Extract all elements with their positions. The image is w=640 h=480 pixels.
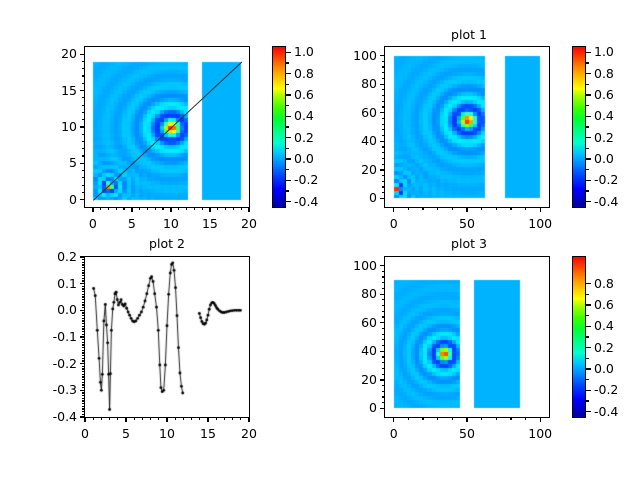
y-minor-tick [82, 270, 85, 271]
y-tick-mark [380, 379, 385, 380]
y-tick-label: 0.2 [27, 249, 77, 264]
y-minor-tick [382, 101, 385, 102]
y-minor-tick [82, 323, 85, 324]
x-tick-label: 100 [515, 426, 565, 441]
y-tick-label: 0 [327, 400, 377, 415]
y-minor-tick [82, 352, 85, 353]
y-minor-tick [382, 186, 385, 187]
colorbar-tick-mark [586, 347, 591, 348]
y-minor-tick [382, 192, 385, 193]
x-minor-tick [191, 417, 192, 420]
colorbar-tick-mark [586, 326, 591, 327]
x-tick-label: 20 [224, 426, 274, 441]
colorbar-top-right [572, 46, 586, 208]
colorbar-tick-mark [286, 94, 291, 95]
colorbar-tick-label: 0.4 [294, 108, 314, 123]
x-minor-tick [155, 207, 156, 210]
axes-content-bottom-left [85, 257, 249, 417]
y-minor-tick [82, 400, 85, 401]
y-minor-tick [382, 78, 385, 79]
colorbar-tick-mark [286, 158, 291, 159]
x-tick-label: 100 [515, 216, 565, 231]
colorbar-tick-label: 0.0 [594, 361, 614, 376]
y-minor-tick [82, 275, 85, 276]
y-tick-mark [380, 294, 385, 295]
axes-content-top-right [385, 47, 549, 207]
y-minor-tick [82, 119, 85, 120]
y-minor-tick [82, 288, 85, 289]
colorbar-tick-mark [586, 52, 591, 53]
x-tick-mark [209, 207, 210, 212]
y-minor-tick [382, 374, 385, 375]
x-minor-tick [510, 207, 511, 210]
y-minor-tick [82, 366, 85, 367]
y-minor-tick [82, 371, 85, 372]
colorbar-tick-label: 0.0 [294, 151, 314, 166]
y-minor-tick [382, 146, 385, 147]
colorbar-minor-tick [586, 400, 589, 401]
y-minor-tick [82, 302, 85, 303]
y-tick-label: 100 [327, 48, 377, 63]
colorbar-tick-mark [586, 283, 591, 284]
x-tick-mark [92, 207, 93, 212]
x-minor-tick [116, 207, 117, 210]
y-minor-tick [82, 299, 85, 300]
x-minor-tick [452, 417, 453, 420]
x-minor-tick [134, 417, 135, 420]
y-minor-tick [382, 95, 385, 96]
y-minor-tick [382, 345, 385, 346]
y-tick-label: 0.1 [27, 276, 77, 291]
y-minor-tick [82, 344, 85, 345]
y-tick-label: 60 [327, 315, 377, 330]
x-minor-tick [525, 417, 526, 420]
y-minor-tick [82, 392, 85, 393]
colorbar-minor-tick [586, 190, 589, 191]
x-minor-tick [109, 417, 110, 420]
x-tick-mark [170, 207, 171, 212]
x-tick-mark [248, 207, 249, 212]
x-minor-tick [186, 207, 187, 210]
y-minor-tick [82, 141, 85, 142]
colorbar-minor-tick [586, 169, 589, 170]
figure-canvas: 0510152005101520 -0.4-0.20.00.20.40.60.8… [0, 0, 640, 480]
colorbar-tick-mark [286, 201, 291, 202]
colorbar-tick-label: -0.4 [594, 194, 618, 209]
colorbar-tick-label: 0.6 [294, 87, 314, 102]
x-minor-tick [158, 417, 159, 420]
x-minor-tick [240, 417, 241, 420]
y-minor-tick [82, 376, 85, 377]
x-minor-tick [422, 207, 423, 210]
x-minor-tick [175, 417, 176, 420]
x-tick-mark [84, 417, 85, 422]
y-minor-tick [82, 296, 85, 297]
y-tick-label: -0.4 [27, 409, 77, 424]
y-tick-mark [380, 351, 385, 352]
colorbar-top-left [272, 46, 286, 208]
y-minor-tick [82, 75, 85, 76]
y-minor-tick [382, 175, 385, 176]
y-minor-tick [382, 402, 385, 403]
y-tick-mark [380, 198, 385, 199]
x-minor-tick [178, 207, 179, 210]
colorbar-tick-label: 0.6 [594, 87, 614, 102]
x-minor-tick [93, 417, 94, 420]
y-tick-mark [380, 408, 385, 409]
colorbar-tick-label: 0.2 [294, 130, 314, 145]
y-minor-tick [82, 105, 85, 106]
x-tick-label: 50 [442, 216, 492, 231]
colorbar-tick-label: 0.8 [594, 66, 614, 81]
y-minor-tick [82, 304, 85, 305]
y-tick-label: 10 [27, 119, 77, 134]
colorbar-tick-mark [586, 390, 591, 391]
y-minor-tick [382, 299, 385, 300]
y-minor-tick [382, 334, 385, 335]
x-minor-tick [202, 207, 203, 210]
y-minor-tick [82, 382, 85, 383]
x-minor-tick [150, 417, 151, 420]
y-minor-tick [382, 305, 385, 306]
y-tick-mark [80, 199, 85, 200]
panel-top-right: plot 1 020406080100050100 -0.4-0.20.00.2… [320, 0, 640, 240]
y-tick-label: 100 [327, 258, 377, 273]
x-minor-tick [108, 207, 109, 210]
y-minor-tick [82, 315, 85, 316]
colorbar-tick-label: 0.2 [594, 130, 614, 145]
y-minor-tick [382, 328, 385, 329]
colorbar-minor-tick [586, 62, 589, 63]
y-minor-tick [382, 124, 385, 125]
colorbar-minor-tick [586, 105, 589, 106]
x-minor-tick [101, 417, 102, 420]
y-minor-tick [382, 164, 385, 165]
x-tick-mark [466, 417, 467, 422]
y-minor-tick [382, 356, 385, 357]
heatmap-image-top-right [385, 47, 549, 207]
x-minor-tick [233, 207, 234, 210]
colorbar-tick-label: -0.4 [294, 194, 318, 209]
colorbar-minor-tick [286, 148, 289, 149]
y-minor-tick [82, 379, 85, 380]
y-minor-tick [82, 307, 85, 308]
y-tick-label: 60 [327, 105, 377, 120]
x-minor-tick [183, 417, 184, 420]
panel-title-bottom-left: plot 2 [84, 236, 250, 251]
y-minor-tick [382, 276, 385, 277]
y-minor-tick [382, 135, 385, 136]
colorbar-minor-tick [286, 169, 289, 170]
y-minor-tick [82, 368, 85, 369]
y-minor-tick [82, 97, 85, 98]
colorbar-tick-mark [586, 137, 591, 138]
x-minor-tick [437, 417, 438, 420]
y-minor-tick [82, 318, 85, 319]
x-tick-mark [393, 207, 394, 212]
x-minor-tick [139, 207, 140, 210]
colorbar-minor-tick [586, 148, 589, 149]
y-minor-tick [82, 272, 85, 273]
colorbar-tick-mark [286, 180, 291, 181]
y-tick-mark [80, 256, 85, 257]
axes-content-top-left [85, 47, 249, 207]
y-minor-tick [82, 331, 85, 332]
y-tick-mark [80, 310, 85, 311]
colorbar-minor-tick [286, 62, 289, 63]
y-tick-label: 20 [327, 162, 377, 177]
x-tick-mark [540, 207, 541, 212]
y-minor-tick [82, 347, 85, 348]
x-tick-mark [207, 417, 208, 422]
x-minor-tick [496, 207, 497, 210]
y-minor-tick [382, 311, 385, 312]
y-tick-mark [380, 84, 385, 85]
y-minor-tick [82, 83, 85, 84]
colorbar-minor-tick [286, 105, 289, 106]
colorbar-tick-label: 0.0 [594, 151, 614, 166]
y-minor-tick [382, 106, 385, 107]
x-tick-mark [540, 417, 541, 422]
y-minor-tick [82, 360, 85, 361]
y-minor-tick [82, 395, 85, 396]
x-minor-tick [142, 417, 143, 420]
y-minor-tick [382, 152, 385, 153]
y-minor-tick [82, 278, 85, 279]
y-minor-tick [82, 280, 85, 281]
x-tick-mark [131, 207, 132, 212]
x-minor-tick [224, 417, 225, 420]
x-minor-tick [525, 207, 526, 210]
colorbar-tick-label: 0.4 [594, 108, 614, 123]
y-minor-tick [82, 406, 85, 407]
x-tick-mark [393, 417, 394, 422]
y-tick-label: 0 [327, 190, 377, 205]
colorbar-minor-tick [586, 336, 589, 337]
y-minor-tick [82, 262, 85, 263]
colorbar-tick-mark [586, 158, 591, 159]
y-minor-tick [82, 148, 85, 149]
panel-bottom-left: plot 2 -0.4-0.3-0.2-0.10.00.10.205101520 [0, 240, 320, 480]
y-tick-mark [80, 54, 85, 55]
x-minor-tick [216, 417, 217, 420]
x-minor-tick [496, 417, 497, 420]
colorbar-minor-tick [286, 84, 289, 85]
colorbar-tick-mark [586, 368, 591, 369]
colorbar-minor-tick [586, 315, 589, 316]
y-minor-tick [82, 355, 85, 356]
x-minor-tick [408, 207, 409, 210]
y-minor-tick [82, 264, 85, 265]
heatmap-image-bottom-right [385, 257, 549, 417]
x-tick-label: 0 [369, 216, 419, 231]
panel-top-left: 0510152005101520 -0.4-0.20.00.20.40.60.8… [0, 0, 320, 240]
colorbar-minor-tick [586, 358, 589, 359]
x-tick-label: 50 [442, 426, 492, 441]
colorbar-tick-mark [286, 116, 291, 117]
y-minor-tick [82, 112, 85, 113]
y-minor-tick [82, 374, 85, 375]
line-series-bottom-left [85, 257, 249, 417]
y-tick-label: 20 [27, 46, 77, 61]
colorbar-tick-label: -0.4 [594, 404, 618, 419]
colorbar-tick-label: -0.2 [594, 382, 618, 397]
x-minor-tick [162, 207, 163, 210]
colorbar-tick-mark [586, 116, 591, 117]
colorbar-tick-mark [586, 73, 591, 74]
y-minor-tick [82, 398, 85, 399]
y-tick-label: 40 [327, 343, 377, 358]
colorbar-tick-mark [586, 180, 591, 181]
panel-title-bottom-right: plot 3 [384, 236, 554, 251]
y-minor-tick [382, 316, 385, 317]
x-minor-tick [194, 207, 195, 210]
y-tick-mark [380, 55, 385, 56]
y-minor-tick [82, 286, 85, 287]
x-minor-tick [422, 417, 423, 420]
x-tick-mark [125, 417, 126, 422]
x-tick-label: 0 [369, 426, 419, 441]
y-minor-tick [382, 118, 385, 119]
y-tick-label: -0.2 [27, 356, 77, 371]
y-tick-mark [80, 126, 85, 127]
y-tick-mark [380, 169, 385, 170]
y-minor-tick [82, 358, 85, 359]
y-minor-tick [82, 411, 85, 412]
x-minor-tick [241, 207, 242, 210]
colorbar-tick-label: 0.4 [594, 318, 614, 333]
colorbar-tick-label: 1.0 [594, 44, 614, 59]
colorbar-tick-label: -0.2 [294, 172, 318, 187]
x-minor-tick [481, 417, 482, 420]
y-minor-tick [82, 192, 85, 193]
y-minor-tick [382, 158, 385, 159]
y-tick-mark [80, 390, 85, 391]
x-minor-tick [225, 207, 226, 210]
y-minor-tick [82, 342, 85, 343]
y-tick-mark [380, 322, 385, 323]
y-minor-tick [82, 326, 85, 327]
y-tick-mark [380, 265, 385, 266]
y-minor-tick [82, 294, 85, 295]
y-minor-tick [82, 384, 85, 385]
colorbar-minor-tick [286, 126, 289, 127]
x-minor-tick [452, 207, 453, 210]
x-tick-label: 20 [224, 216, 274, 231]
colorbar-tick-mark [286, 73, 291, 74]
y-tick-mark [380, 141, 385, 142]
colorbar-tick-mark [286, 52, 291, 53]
y-minor-tick [382, 282, 385, 283]
x-minor-tick [147, 207, 148, 210]
y-tick-mark [380, 112, 385, 113]
panel-title-top-right: plot 1 [384, 27, 554, 42]
colorbar-tick-label: 0.2 [594, 340, 614, 355]
y-minor-tick [82, 134, 85, 135]
y-tick-mark [80, 363, 85, 364]
x-minor-tick [437, 207, 438, 210]
x-tick-mark [166, 417, 167, 422]
y-minor-tick [382, 288, 385, 289]
y-minor-tick [82, 408, 85, 409]
colorbar-bottom-right [572, 256, 586, 418]
colorbar-tick-mark [586, 201, 591, 202]
x-tick-mark [466, 207, 467, 212]
x-minor-tick [408, 417, 409, 420]
y-minor-tick [82, 291, 85, 292]
y-tick-label: 20 [327, 372, 377, 387]
y-tick-label: 40 [327, 133, 377, 148]
y-minor-tick [382, 391, 385, 392]
colorbar-tick-label: 0.8 [594, 276, 614, 291]
y-minor-tick [82, 320, 85, 321]
y-minor-tick [82, 312, 85, 313]
y-minor-tick [82, 155, 85, 156]
colorbar-minor-tick [286, 190, 289, 191]
y-minor-tick [82, 185, 85, 186]
y-minor-tick [382, 339, 385, 340]
y-tick-mark [80, 283, 85, 284]
y-minor-tick [382, 396, 385, 397]
y-tick-mark [80, 90, 85, 91]
y-minor-tick [82, 68, 85, 69]
y-minor-tick [82, 350, 85, 351]
colorbar-minor-tick [586, 84, 589, 85]
x-minor-tick [510, 417, 511, 420]
y-minor-tick [382, 271, 385, 272]
colorbar-tick-label: 0.6 [594, 297, 614, 312]
axes-content-bottom-right [385, 257, 549, 417]
y-minor-tick [82, 177, 85, 178]
y-minor-tick [382, 129, 385, 130]
y-tick-mark [80, 336, 85, 337]
colorbar-minor-tick [586, 126, 589, 127]
panel-bottom-right: plot 3 020406080100050100 -0.4-0.20.00.2… [320, 240, 640, 480]
y-minor-tick [82, 339, 85, 340]
y-minor-tick [382, 385, 385, 386]
y-tick-label: 80 [327, 286, 377, 301]
x-tick-mark [248, 417, 249, 422]
y-tick-label: 15 [27, 83, 77, 98]
colorbar-tick-label: 1.0 [294, 44, 314, 59]
y-tick-label: -0.1 [27, 329, 77, 344]
colorbar-tick-label: -0.2 [594, 172, 618, 187]
x-minor-tick [117, 417, 118, 420]
x-minor-tick [100, 207, 101, 210]
y-minor-tick [82, 414, 85, 415]
colorbar-tick-mark [586, 304, 591, 305]
colorbar-tick-mark [586, 411, 591, 412]
colorbar-minor-tick [586, 294, 589, 295]
y-minor-tick [382, 89, 385, 90]
y-minor-tick [382, 72, 385, 73]
y-minor-tick [82, 61, 85, 62]
y-tick-label: 80 [327, 76, 377, 91]
colorbar-tick-mark [286, 137, 291, 138]
y-minor-tick [382, 368, 385, 369]
y-minor-tick [382, 181, 385, 182]
x-minor-tick [232, 417, 233, 420]
colorbar-tick-mark [586, 94, 591, 95]
y-minor-tick [382, 362, 385, 363]
y-minor-tick [82, 328, 85, 329]
y-minor-tick [82, 387, 85, 388]
y-tick-mark [80, 163, 85, 164]
y-tick-label: -0.3 [27, 382, 77, 397]
x-minor-tick [123, 207, 124, 210]
y-tick-label: 0.0 [27, 302, 77, 317]
y-minor-tick [82, 259, 85, 260]
